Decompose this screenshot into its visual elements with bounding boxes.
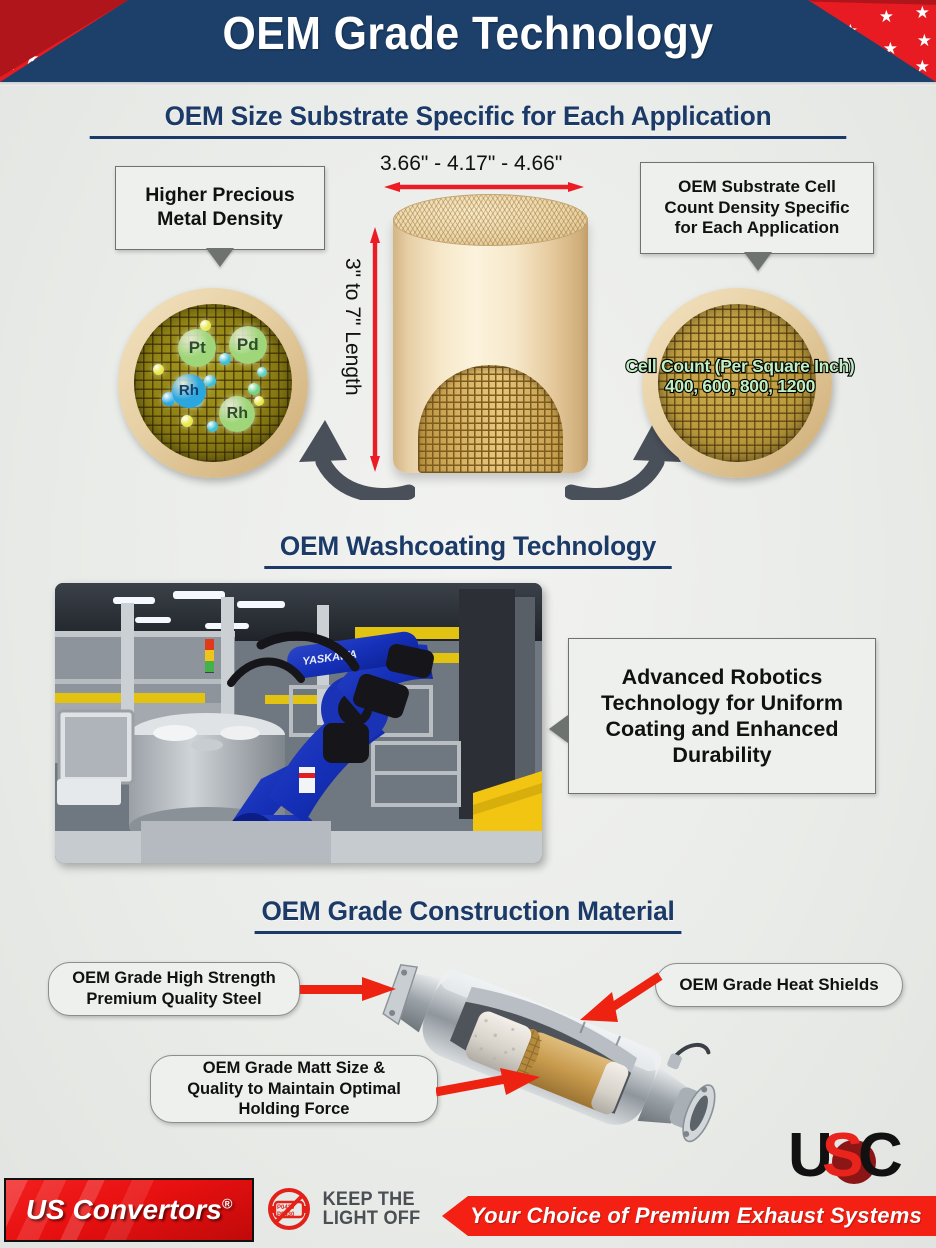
keep-line-1: KEEP THE	[323, 1190, 421, 1209]
tagline-text: Your Choice of Premium Exhaust Systems	[456, 1203, 922, 1229]
callout-cell-count-density: OEM Substrate Cell Count Density Specifi…	[640, 162, 874, 254]
callout-advanced-robotics: Advanced Robotics Technology for Uniform…	[568, 638, 876, 794]
header-divider	[0, 82, 936, 86]
arrow-to-steel-shell	[300, 976, 396, 1002]
cylinder-honeycomb-top	[393, 194, 588, 246]
substrate-cylinder	[393, 194, 588, 494]
callout-premium-steel: OEM Grade High Strength Premium Quality …	[48, 962, 300, 1016]
precious-metal-particle	[248, 383, 260, 395]
callout-line: Coating and Enhanced	[606, 716, 839, 742]
cell-count-line-2: 400, 600, 800, 1200	[600, 377, 880, 397]
usc-logo: U S C	[788, 1122, 914, 1188]
callout-line: Metal Density	[157, 208, 283, 232]
length-dimension-label: 3" to 7" Length	[340, 258, 364, 396]
callout-line: Count Density Specific	[664, 198, 849, 219]
cylinder-honeycomb-cutaway	[418, 365, 562, 473]
callout-line: Quality to Maintain Optimal	[187, 1079, 401, 1100]
section-title-material: OEM Grade Construction Material	[255, 896, 682, 934]
callout-tail-cell-count	[745, 253, 771, 271]
cell-count-caption: Cell Count (Per Square Inch) 400, 600, 8…	[600, 357, 880, 396]
precious-metal-particle	[207, 421, 218, 432]
svg-text:C: C	[858, 1122, 903, 1188]
precious-metal-particle	[181, 415, 193, 427]
page-title: OEM Grade Technology	[33, 6, 903, 60]
no-check-engine-icon: P0420 P0430	[266, 1186, 312, 1232]
closeup-precious-metals: PtPdRhRh	[118, 288, 308, 478]
tagline-banner: Your Choice of Premium Exhaust Systems	[442, 1196, 936, 1236]
diameter-dimension-label: 3.66" - 4.17" - 4.66"	[380, 152, 562, 176]
arrow-to-heat-shield	[578, 968, 664, 1028]
callout-line: for Each Application	[675, 218, 840, 239]
precious-metal-marker-pd: Pd	[229, 326, 267, 364]
honeycomb-mesh-left: PtPdRhRh	[134, 304, 292, 462]
precious-metal-particle	[219, 353, 231, 365]
keep-light-off-text: KEEP THE LIGHT OFF	[323, 1190, 421, 1228]
callout-line: OEM Grade Matt Size &	[203, 1058, 385, 1079]
page-header: ★ ★ ★ ★ ★ ★ ★ ★ ★ ★ ★ ★ ★ ★ ★ ★ OEM Grad…	[0, 0, 936, 82]
precious-metal-particle	[257, 367, 267, 377]
factory-scene: YASKAWA	[55, 583, 542, 863]
callout-line: Technology for Uniform	[601, 690, 843, 716]
callout-line: Durability	[672, 742, 771, 768]
curved-arrow-left	[285, 400, 415, 500]
infographic-page: ★ ★ ★ ★ ★ ★ ★ ★ ★ ★ ★ ★ ★ ★ ★ ★ OEM Grad…	[0, 0, 936, 1248]
callout-heat-shields: OEM Grade Heat Shields	[655, 963, 903, 1007]
precious-metal-marker-rh: Rh	[172, 374, 206, 408]
brand-name: US Convertors®	[26, 1194, 232, 1226]
keep-the-light-off-badge: P0420 P0430 KEEP THE LIGHT OFF	[266, 1186, 423, 1232]
callout-tail-precious-metal	[207, 249, 233, 267]
callout-line: OEM Grade Heat Shields	[679, 974, 878, 995]
cylinder-body	[393, 218, 588, 473]
cell-count-line-1: Cell Count (Per Square Inch)	[600, 357, 880, 377]
precious-metal-particle	[254, 396, 264, 406]
callout-matt-size: OEM Grade Matt Size & Quality to Maintai…	[150, 1055, 438, 1123]
washcoating-photo: YASKAWA	[55, 583, 542, 863]
callout-precious-metal-density: Higher Precious Metal Density	[115, 166, 325, 250]
registered-mark: ®	[222, 1196, 232, 1212]
precious-metal-particle	[153, 364, 164, 375]
brand-logo-box: US Convertors®	[4, 1178, 254, 1242]
callout-line: OEM Grade High Strength	[72, 968, 276, 989]
callout-line: OEM Substrate Cell	[678, 177, 836, 198]
arrow-to-matt	[436, 1068, 540, 1098]
precious-metal-marker-rh: Rh	[219, 396, 255, 432]
precious-metal-marker-pt: Pt	[178, 329, 216, 367]
callout-line: Premium Quality Steel	[86, 989, 261, 1010]
callout-line: Higher Precious	[145, 184, 295, 208]
callout-line: Advanced Robotics	[622, 664, 823, 690]
section-title-size: OEM Size Substrate Specific for Each App…	[90, 101, 847, 139]
keep-line-2: LIGHT OFF	[323, 1209, 421, 1228]
section-title-washcoating: OEM Washcoating Technology	[264, 531, 671, 569]
callout-line: Holding Force	[239, 1099, 350, 1120]
callout-tail-robotics	[550, 716, 568, 742]
diameter-arrow	[384, 182, 584, 192]
